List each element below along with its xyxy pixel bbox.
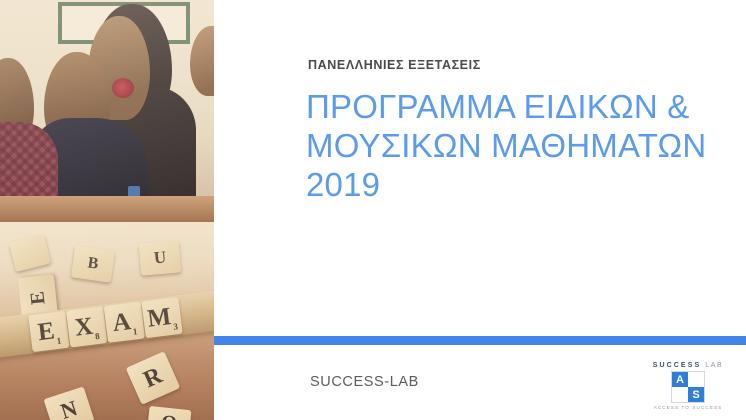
logo-tagline: ACCESS TO SUCCESS <box>640 405 736 410</box>
tile-letter: E <box>36 317 56 347</box>
tile-points: 8 <box>95 331 101 341</box>
scrabble-tile: E1 <box>28 311 69 352</box>
tile-points: 1 <box>56 336 62 346</box>
logo-word-success: SUCCESS <box>653 362 702 369</box>
slide-content: ΠΑΝΕΛΛΗΝΙΕΣ ΕΞΕΤΑΣΕΙΣ ΠΡΟΓΡΑΜΜΑ ΕΙΔΙΚΩΝ … <box>214 0 746 420</box>
hair-flower <box>112 78 134 98</box>
scrabble-loose-tile: B <box>71 245 115 282</box>
tile-letter: A <box>111 308 132 338</box>
tile-letter: R <box>140 362 167 394</box>
scrabble-loose-tile: U <box>139 240 182 275</box>
footer-brand-label: SUCCESS-LAB <box>310 374 419 390</box>
slide-title: ΠΡΟΓΡΑΜΜΑ ΕΙΔΙΚΩΝ & ΜΟΥΣΙΚΩΝ ΜΑΘΗΜΑΤΩΝ 2… <box>306 88 726 205</box>
desk-surface <box>0 196 214 222</box>
tile-points: 3 <box>173 321 179 331</box>
scrabble-loose-tile: R <box>126 351 181 405</box>
tile-points: 1 <box>132 326 138 336</box>
scrabble-tile: M3 <box>141 297 182 338</box>
tile-letter: N <box>57 395 80 420</box>
scrabble-loose-tile: O <box>147 406 192 420</box>
tile-letter: O <box>160 411 178 420</box>
scrabble-loose-tile <box>9 234 51 272</box>
scrabble-loose-tile: N <box>43 386 94 420</box>
logo-cell-blank-top-right <box>688 372 704 387</box>
accent-divider <box>214 336 746 345</box>
tile-letter: E <box>26 290 50 306</box>
logo-mark-grid: A S <box>671 371 705 403</box>
tile-letter: M <box>146 303 173 334</box>
success-lab-logo: SUCCESS LAB A S ACCESS TO SUCCESS <box>640 362 736 410</box>
logo-cell-a: A <box>672 372 688 387</box>
logo-word-lab: LAB <box>705 362 723 369</box>
logo-cell-blank-bottom-left <box>672 387 688 402</box>
scrabble-tile: A1 <box>104 302 145 343</box>
scrabble-tile: X8 <box>66 306 107 347</box>
student-head-far-right <box>190 26 214 96</box>
tile-letter: U <box>153 248 167 269</box>
slide-eyebrow: ΠΑΝΕΛΛΗΝΙΕΣ ΕΞΕΤΑΣΕΙΣ <box>308 58 481 72</box>
tile-letter: B <box>86 254 99 273</box>
image-panel: B U E E1 X8 A1 M3 R N O <box>0 0 214 420</box>
logo-cell-s: S <box>688 387 704 402</box>
logo-wordmark: SUCCESS LAB <box>640 362 736 369</box>
classroom-photo <box>0 0 214 222</box>
scrabble-photo: B U E E1 X8 A1 M3 R N O <box>0 222 214 420</box>
tile-letter: X <box>73 312 94 342</box>
presentation-slide: B U E E1 X8 A1 M3 R N O <box>0 0 746 420</box>
